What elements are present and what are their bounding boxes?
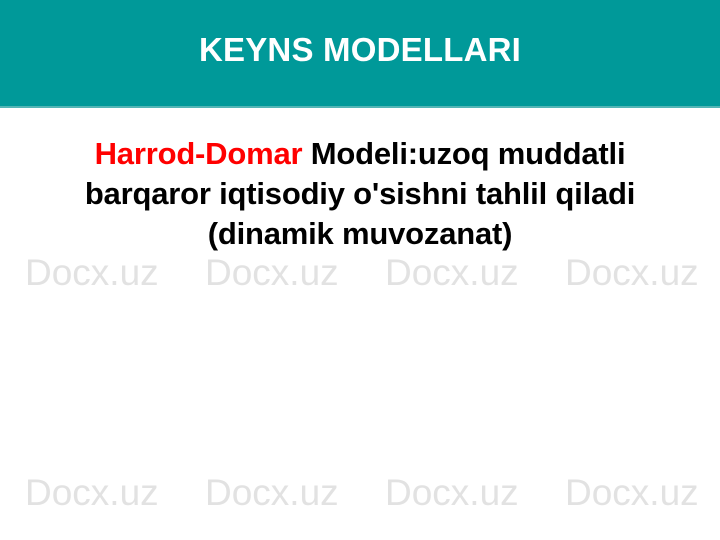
watermark-text: Docx.uz	[25, 254, 205, 291]
presentation-slide: Docx.uzDocx.uzDocx.uzDocx.uz Docx.uzDocx…	[0, 0, 720, 540]
watermark-row: Docx.uzDocx.uzDocx.uzDocx.uz	[25, 254, 720, 291]
watermark-text: Docx.uz	[565, 474, 720, 511]
header-banner-edge	[0, 106, 720, 108]
watermark-text: Docx.uz	[385, 474, 565, 511]
slide-title: KEYNS MODELLARI	[0, 0, 720, 106]
watermark-text: Docx.uz	[25, 474, 205, 511]
watermark-row: Docx.uzDocx.uzDocx.uzDocx.uz	[25, 474, 720, 511]
slide-body-text: Harrod-Domar Modeli:uzoq muddatli barqar…	[36, 134, 684, 254]
watermark-text: Docx.uz	[205, 254, 385, 291]
watermark-text: Docx.uz	[205, 474, 385, 511]
watermark-text: Docx.uz	[565, 254, 720, 291]
watermark-text: Docx.uz	[385, 254, 565, 291]
body-accent-term: Harrod-Domar	[95, 136, 303, 171]
